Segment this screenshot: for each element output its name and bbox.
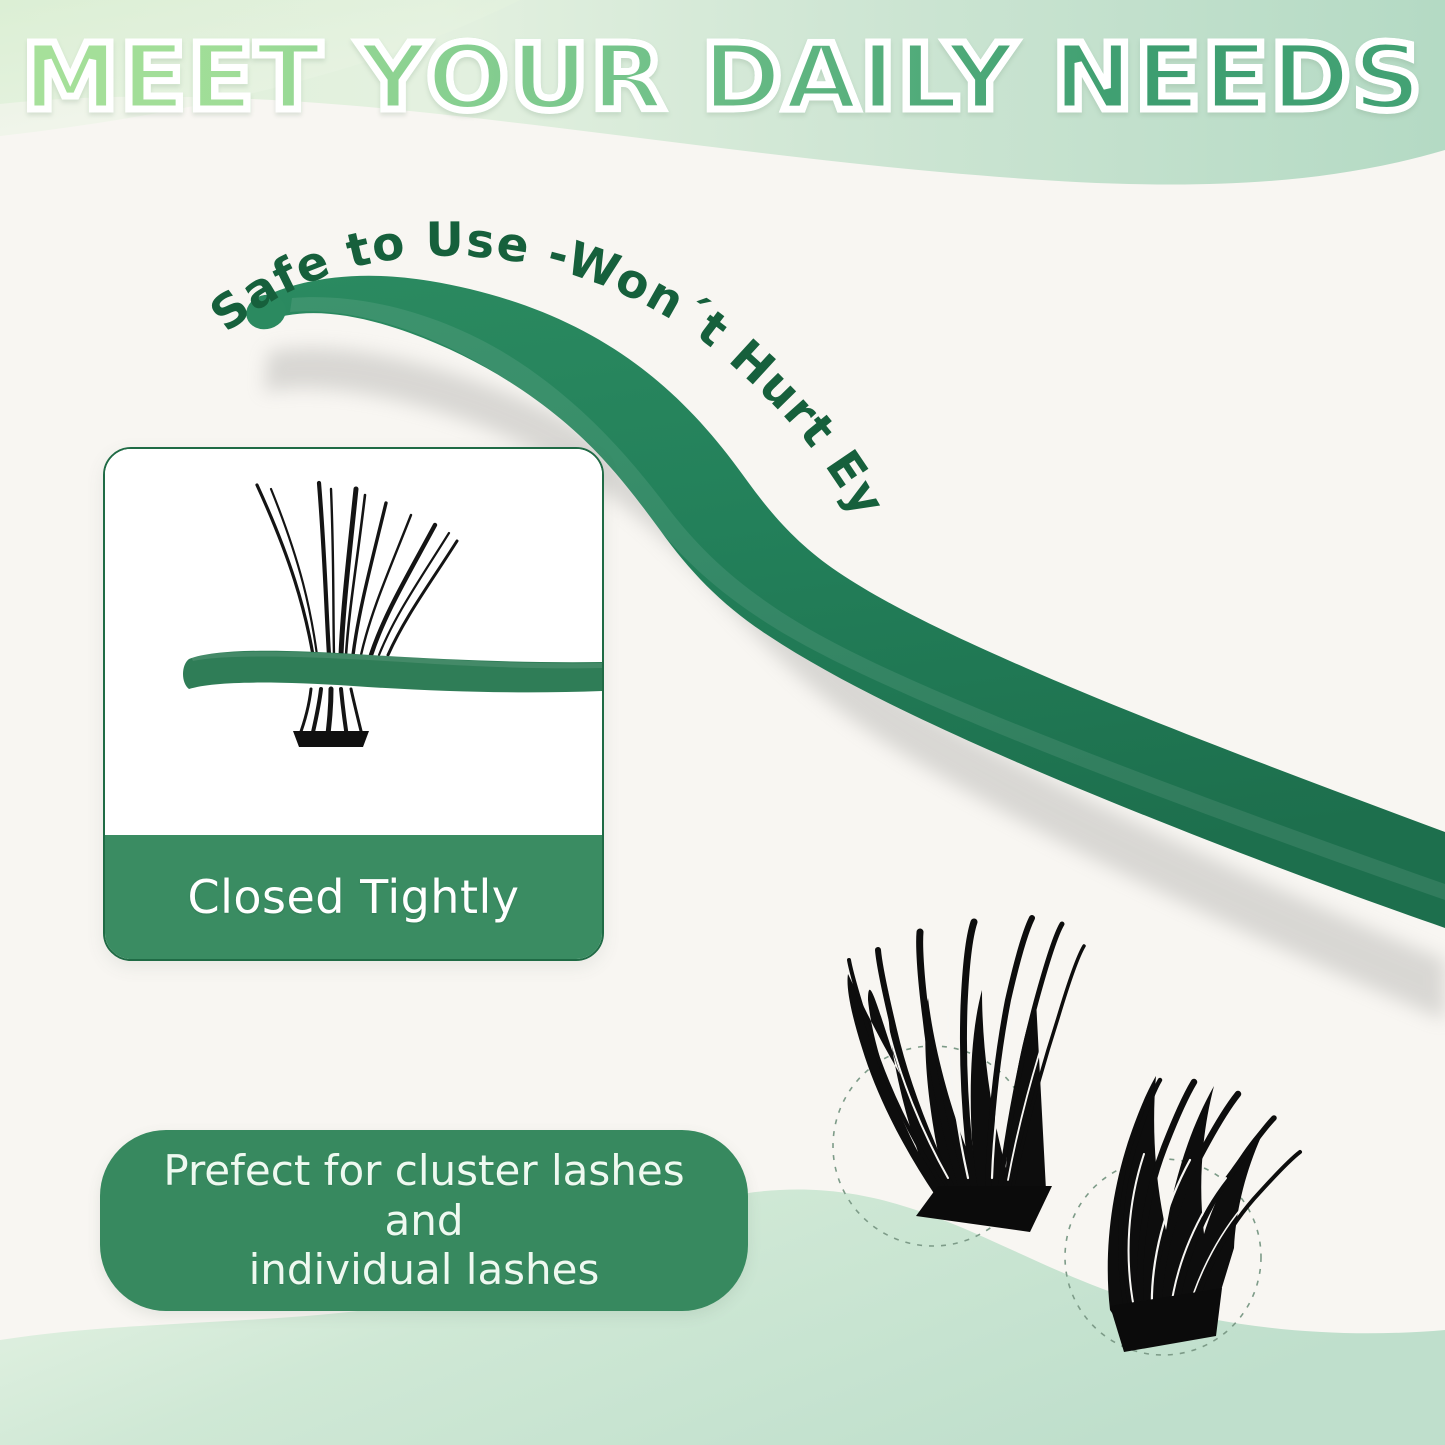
feature-pill-label: Prefect for cluster lashes and individua… <box>100 1130 748 1311</box>
product-feature-poster: MEET YOUR DAILY NEEDS <box>0 0 1445 1445</box>
feature-pill[interactable]: Prefect for cluster lashes and individua… <box>100 1130 748 1311</box>
lash-band <box>293 731 369 747</box>
card-photo <box>105 449 602 835</box>
page-title: MEET YOUR DAILY NEEDS <box>0 32 1445 124</box>
card-footer-label: Closed Tightly <box>188 870 520 924</box>
closed-tightly-card[interactable]: Closed Tightly <box>103 447 604 961</box>
lash-cluster-lower <box>1108 1076 1300 1352</box>
lash-base-band-upper <box>916 1186 1052 1232</box>
card-footer: Closed Tightly <box>105 835 602 959</box>
feature-pill-line-2: individual lashes <box>249 1245 600 1294</box>
tweezer-gripping-lash-illustration <box>105 449 602 835</box>
feature-pill-line-1: Prefect for cluster lashes and <box>163 1146 684 1245</box>
lash-cluster-upper <box>848 918 1084 1232</box>
